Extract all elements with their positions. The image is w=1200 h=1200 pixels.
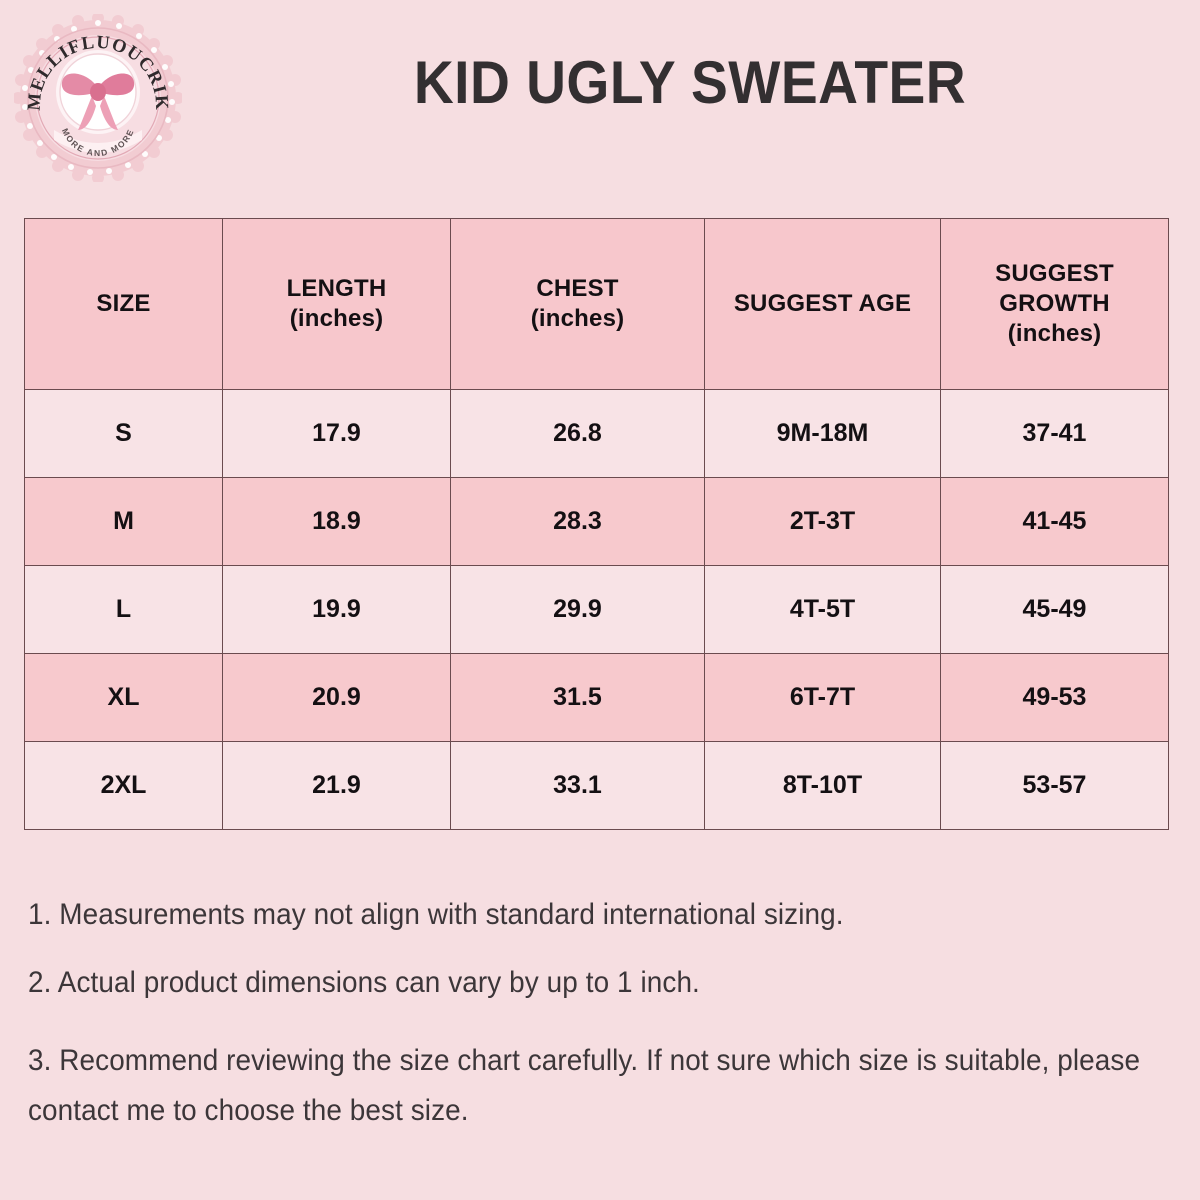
table-header-row: SIZE LENGTH (inches) CHEST (inches) SUGG… — [25, 219, 1169, 390]
cell-growth: 45-49 — [941, 566, 1169, 654]
table-row: M 18.9 28.3 2T-3T 41-45 — [25, 478, 1169, 566]
cell-length: 19.9 — [223, 566, 451, 654]
cell-length: 17.9 — [223, 390, 451, 478]
cell-chest: 33.1 — [451, 742, 705, 830]
cell-length: 21.9 — [223, 742, 451, 830]
column-header-size: SIZE — [25, 219, 223, 390]
page-title: KID UGLY SWEATER — [239, 48, 1141, 117]
cell-size: XL — [25, 654, 223, 742]
cell-age: 8T-10T — [705, 742, 941, 830]
cell-length: 18.9 — [223, 478, 451, 566]
cell-chest: 29.9 — [451, 566, 705, 654]
column-header-growth-line1: SUGGEST — [941, 259, 1168, 289]
column-header-growth: SUGGEST GROWTH (inches) — [941, 219, 1169, 390]
note-1: 1. Measurements may not align with stand… — [28, 900, 1088, 930]
column-header-age: SUGGEST AGE — [705, 219, 941, 390]
notes-section: 1. Measurements may not align with stand… — [28, 900, 1168, 1135]
cell-growth: 41-45 — [941, 478, 1169, 566]
note-2: 2. Actual product dimensions can vary by… — [28, 968, 1088, 998]
column-header-length: LENGTH (inches) — [223, 219, 451, 390]
size-chart-table: SIZE LENGTH (inches) CHEST (inches) SUGG… — [24, 218, 1169, 830]
table-row: 2XL 21.9 33.1 8T-10T 53-57 — [25, 742, 1169, 830]
cell-size: S — [25, 390, 223, 478]
cell-growth: 49-53 — [941, 654, 1169, 742]
table-body: S 17.9 26.8 9M-18M 37-41 M 18.9 28.3 2T-… — [25, 390, 1169, 830]
column-header-growth-line3: (inches) — [941, 319, 1168, 349]
column-header-chest: CHEST (inches) — [451, 219, 705, 390]
cell-age: 6T-7T — [705, 654, 941, 742]
column-header-age-line1: SUGGEST AGE — [705, 289, 940, 319]
cell-chest: 28.3 — [451, 478, 705, 566]
cell-growth: 37-41 — [941, 390, 1169, 478]
cell-age: 2T-3T — [705, 478, 941, 566]
cell-size: M — [25, 478, 223, 566]
column-header-length-line1: LENGTH — [223, 274, 450, 304]
cell-age: 9M-18M — [705, 390, 941, 478]
table-row: L 19.9 29.9 4T-5T 45-49 — [25, 566, 1169, 654]
cell-growth: 53-57 — [941, 742, 1169, 830]
cell-length: 20.9 — [223, 654, 451, 742]
cell-size: 2XL — [25, 742, 223, 830]
table-row: S 17.9 26.8 9M-18M 37-41 — [25, 390, 1169, 478]
cell-age: 4T-5T — [705, 566, 941, 654]
cell-size: L — [25, 566, 223, 654]
cell-chest: 26.8 — [451, 390, 705, 478]
column-header-chest-line2: (inches) — [451, 304, 704, 334]
column-header-length-line2: (inches) — [223, 304, 450, 334]
note-3: 3. Recommend reviewing the size chart ca… — [28, 1036, 1153, 1135]
column-header-growth-line2: GROWTH — [941, 289, 1168, 319]
brand-logo: MELLIFLUOUCRIK MORE AND MORE — [14, 14, 182, 182]
column-header-size-line1: SIZE — [25, 289, 222, 319]
column-header-chest-line1: CHEST — [451, 274, 704, 304]
bow-badge-logo: MELLIFLUOUCRIK MORE AND MORE — [14, 14, 182, 182]
cell-chest: 31.5 — [451, 654, 705, 742]
table-row: XL 20.9 31.5 6T-7T 49-53 — [25, 654, 1169, 742]
table-header: SIZE LENGTH (inches) CHEST (inches) SUGG… — [25, 219, 1169, 390]
